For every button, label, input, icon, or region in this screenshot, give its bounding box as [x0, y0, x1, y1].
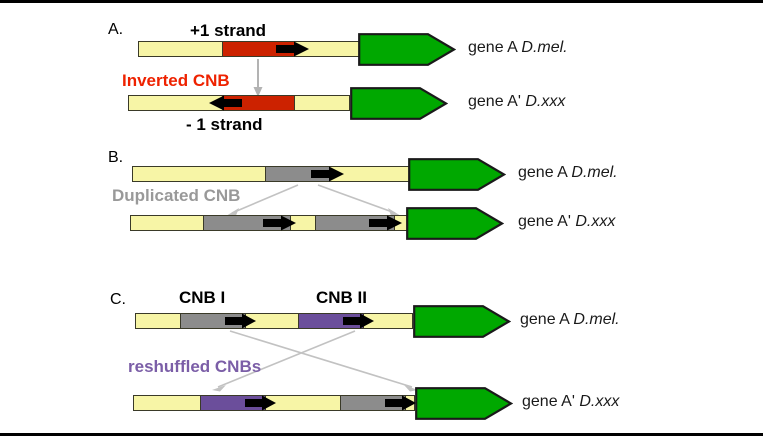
panel-a-bottom-annotation: - 1 strand [186, 115, 263, 135]
gene-label-species: D.xxx [579, 393, 619, 410]
panel-a-row2-gene-label: gene A' D.xxx [468, 93, 565, 111]
panel-c-row2-arrowhead-purple-icon [245, 395, 277, 411]
gene-label-plain: gene A [468, 39, 521, 56]
panel-c-row1-arrowhead-cnb1-icon [225, 313, 257, 329]
panel-letter-c: C. [110, 291, 126, 309]
panel-b-row2-arrowhead-copy1-icon [263, 215, 297, 231]
gene-label-species: D.mel. [571, 164, 617, 181]
panel-a-connector-arrow [248, 59, 268, 99]
panel-c-row2-arrowhead-gray-icon [385, 395, 417, 411]
panel-c-cnb1-label: CNB I [179, 288, 225, 308]
gene-label-species: D.xxx [525, 93, 565, 110]
panel-b-row1-gene-label: gene A D.mel. [518, 164, 618, 182]
gene-label-species: D.mel. [521, 39, 567, 56]
gene-label-species: D.xxx [575, 213, 615, 230]
panel-a-top-annotation: +1 strand [190, 21, 266, 41]
panel-b-event-label: Duplicated CNB [112, 186, 240, 206]
panel-b-row2-arrowhead-copy2-icon [369, 215, 403, 231]
gene-label-plain: gene A' [522, 393, 579, 410]
panel-b-row2-gene-label: gene A' D.xxx [518, 213, 615, 231]
gene-label-plain: gene A' [518, 213, 575, 230]
gene-label-species: D.mel. [573, 311, 619, 328]
figure-canvas: A. +1 strand gene A D.mel. Inverted CNB … [0, 0, 763, 436]
panel-c-row2-gene-label: gene A' D.xxx [522, 393, 619, 411]
gene-label-plain: gene A' [468, 93, 525, 110]
panel-a-row2-arrowhead-reverse-icon [208, 95, 242, 111]
panel-b-row2-gene-arrow [406, 207, 504, 240]
panel-letter-a: A. [108, 21, 123, 39]
gene-label-plain: gene A [520, 311, 573, 328]
panel-a-row1-gene-arrow [358, 33, 456, 66]
panel-c-row2-gene-arrow [415, 387, 513, 420]
panel-a-row2-gene-arrow [350, 87, 448, 120]
panel-a-row1-gene-label: gene A D.mel. [468, 39, 568, 57]
gene-label-plain: gene A [518, 164, 571, 181]
panel-b-row1-arrowhead-forward-icon [311, 166, 345, 182]
panel-b-row1-gene-arrow [408, 158, 506, 191]
panel-c-event-label: reshuffled CNBs [128, 357, 261, 377]
panel-a-event-label: Inverted CNB [122, 71, 230, 91]
panel-c-row1-gene-label: gene A D.mel. [520, 311, 620, 329]
panel-c-row1-gene-arrow [413, 305, 511, 338]
panel-c-cnb2-label: CNB II [316, 288, 367, 308]
panel-a-row1-arrowhead-forward-icon [276, 41, 310, 57]
panel-letter-b: B. [108, 149, 123, 167]
panel-c-row1-arrowhead-cnb2-icon [343, 313, 375, 329]
